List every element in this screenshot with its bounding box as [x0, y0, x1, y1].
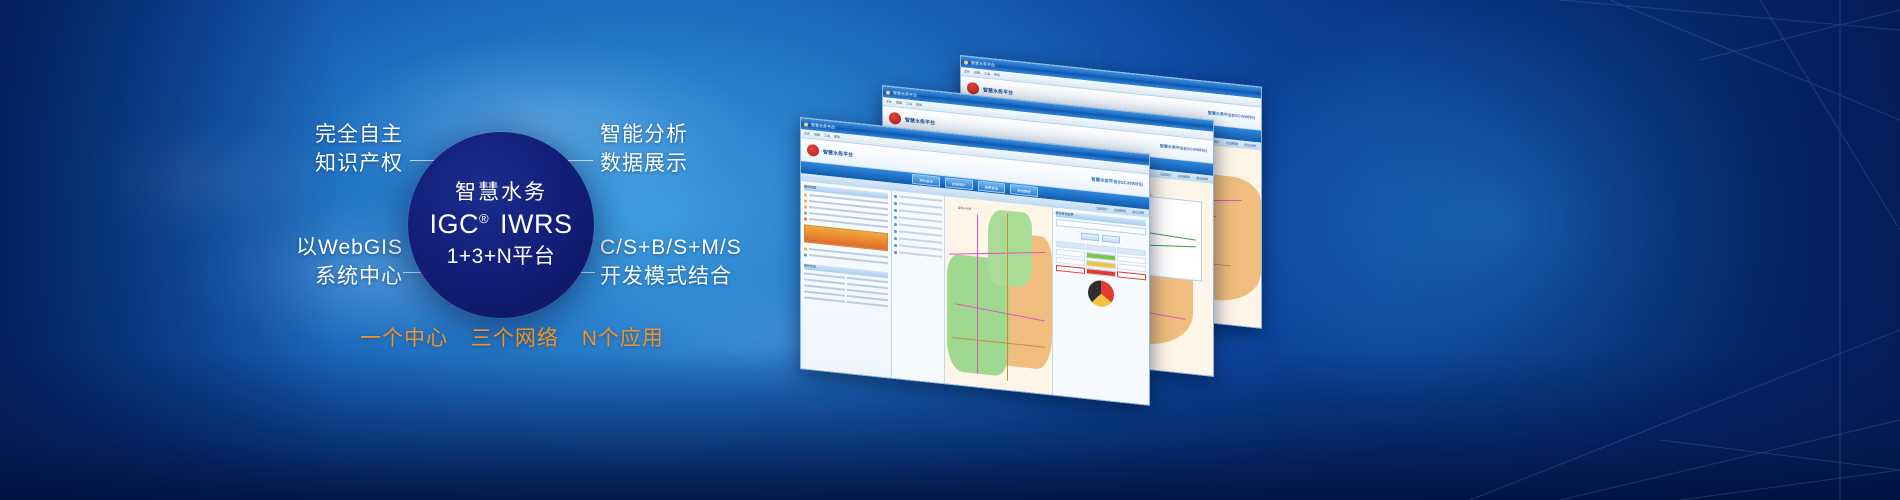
menu-item-view[interactable]: 视图 — [814, 132, 820, 137]
menu-item-tools[interactable]: 工具 — [984, 72, 990, 77]
menu-item-file[interactable]: 文件 — [964, 69, 970, 74]
subnav-item-1[interactable]: 在线帮助 — [1226, 141, 1238, 146]
menu-item-view[interactable]: 视图 — [896, 100, 902, 105]
feature-line-1: C/S+B/S+M/S — [600, 234, 775, 263]
feature-line-1: 智能分析 — [600, 121, 770, 150]
feature-line-2: 开发模式结合 — [600, 263, 775, 292]
tagline-segment-1: 一个中心 — [360, 322, 448, 352]
window-icon — [804, 122, 808, 126]
map-road — [1007, 214, 1008, 380]
map-pipeline — [977, 215, 978, 374]
hub-title: 智慧水务 — [455, 181, 547, 205]
product-screenshots: 智慧水务平台 文件 视图 工具 帮助 智慧水务平台 智慧水务平台(IGC®IWR… — [800, 55, 1360, 385]
feature-label-top-left: 完全自主 知识产权 — [303, 121, 403, 178]
map-canvas[interactable]: 管网分布图 — [945, 196, 1051, 396]
feature-label-bottom-right: C/S+B/S+M/S 开发模式结合 — [600, 234, 775, 291]
layer-tree-panel[interactable]: 图层管理 属性信息 — [801, 181, 892, 380]
brand-title: 智慧水务平台 — [823, 148, 853, 158]
subnav-item-0[interactable]: 当前用户 — [1160, 172, 1172, 177]
feature-line-2: 系统中心 — [296, 263, 403, 292]
feature-label-top-right: 智能分析 数据展示 — [600, 121, 770, 178]
map-label: 管网分布图 — [958, 205, 971, 210]
tagline: 一个中心 三个网络 N个应用 — [360, 322, 780, 352]
map-tools-panel[interactable] — [892, 191, 946, 386]
subnav-item-2[interactable]: 退出系统 — [1132, 210, 1144, 215]
window-icon — [964, 60, 968, 64]
hub-product-igc: IGC — [429, 209, 479, 239]
query-search-button[interactable] — [1081, 233, 1099, 242]
hub-platform-label: 1+3+N平台 — [447, 244, 556, 269]
feature-line-2: 数据展示 — [600, 150, 770, 179]
subnav-item-2[interactable]: 退出系统 — [1244, 143, 1256, 148]
window-title: 智慧水务平台 — [811, 122, 835, 131]
query-clear-button[interactable] — [1102, 235, 1120, 244]
result-pie-chart — [1088, 279, 1114, 308]
menu-item-help[interactable]: 帮助 — [834, 135, 840, 140]
feature-line-1: 完全自主 — [303, 121, 403, 150]
tagline-segment-2: 三个网络 — [471, 322, 559, 352]
registered-mark-icon: ® — [479, 211, 489, 226]
menu-item-file[interactable]: 文件 — [804, 131, 810, 136]
window-body: 图层管理 属性信息 — [801, 181, 1149, 406]
platform-header-title: 智慧水务平台(IGC®IWRS) — [1091, 177, 1143, 188]
feature-line-1: 以WebGIS — [296, 234, 403, 263]
banner-stage: 智慧水务平台 文件 视图 工具 帮助 智慧水务平台 智慧水务平台(IGC®IWR… — [0, 0, 1900, 500]
menu-item-view[interactable]: 视图 — [974, 70, 980, 75]
feature-label-bottom-left: 以WebGIS 系统中心 — [296, 234, 403, 291]
app-window-front[interactable]: 智慧水务平台 文件 视图 工具 帮助 智慧水务平台 智慧水务平台(IGC®IWR… — [800, 117, 1150, 406]
brand-title: 智慧水务平台 — [983, 86, 1013, 96]
menu-item-help[interactable]: 帮助 — [916, 103, 922, 108]
window-title: 智慧水务平台 — [893, 90, 917, 99]
menu-item-help[interactable]: 帮助 — [994, 73, 1000, 78]
platform-header-title: 智慧水务平台(IGC®IWRS) — [1208, 110, 1255, 121]
company-logo-icon — [889, 112, 901, 125]
window-icon — [886, 90, 890, 94]
hub-product-iwrs: IWRS — [500, 209, 573, 239]
map-zone-green-2 — [988, 208, 1033, 288]
hub-product-name: IGC®IWRS — [429, 210, 572, 240]
platform-header-title: 智慧水务平台(IGC®IWRS) — [1160, 143, 1207, 154]
window-title: 智慧水务平台 — [971, 60, 995, 69]
menu-item-tools[interactable]: 工具 — [824, 134, 830, 139]
feature-line-2: 知识产权 — [303, 150, 403, 179]
menu-item-file[interactable]: 文件 — [886, 99, 892, 104]
subnav-item-1[interactable]: 在线帮助 — [1178, 174, 1190, 179]
tagline-segment-3: N个应用 — [582, 322, 664, 352]
center-hub-circle: 智慧水务 IGC®IWRS 1+3+N平台 — [408, 132, 594, 318]
subnav-item-1[interactable]: 在线帮助 — [1114, 208, 1126, 213]
company-logo-icon — [807, 144, 819, 157]
query-result-panel[interactable]: 属性查询结果 — [1052, 207, 1149, 405]
company-logo-icon — [967, 82, 979, 95]
menu-item-tools[interactable]: 工具 — [906, 102, 912, 107]
brand-title: 智慧水务平台 — [905, 116, 935, 126]
subnav-item-0[interactable]: 当前用户 — [1096, 206, 1108, 211]
subnav-item-2[interactable]: 退出系统 — [1196, 176, 1208, 181]
